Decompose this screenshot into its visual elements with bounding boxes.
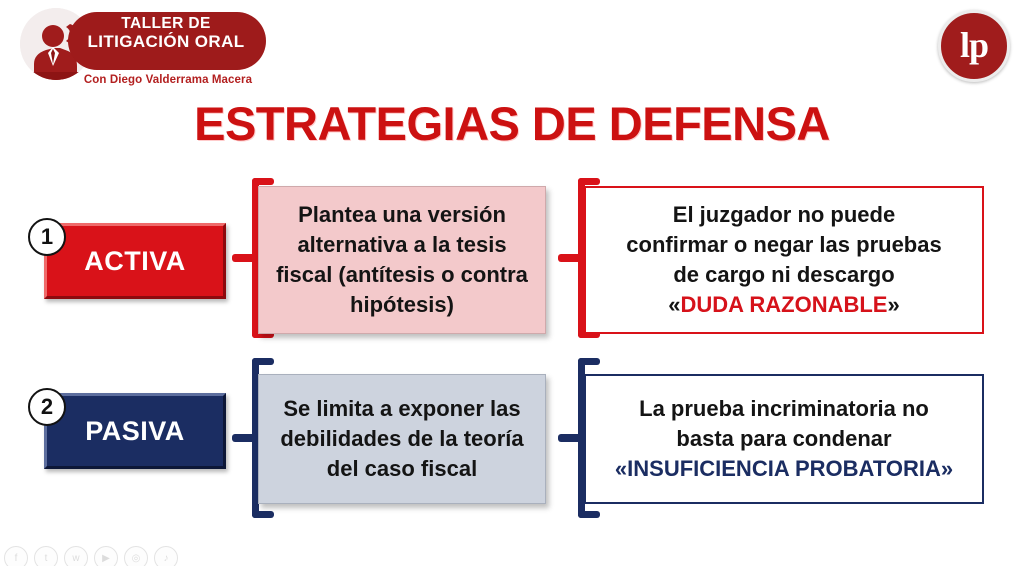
strategy-label-text: PASIVA xyxy=(85,416,185,447)
conclusion-line: basta para condenar xyxy=(676,426,891,451)
conclusion-line: El juzgador no puede xyxy=(673,202,895,227)
strategy-row-active: 1 ACTIVA Plantea una versión alternativa… xyxy=(0,178,1024,338)
strategy-row-passive: 2 PASIVA Se limita a exponer las debilid… xyxy=(0,358,1024,518)
logo-subtitle: Con Diego Valderrama Macera xyxy=(68,74,268,86)
row-number-badge: 2 xyxy=(28,388,66,426)
instagram-icon[interactable]: ◎ xyxy=(124,546,148,566)
strategy-description-panel-passive: Se limita a exponer las debilidades de l… xyxy=(258,374,546,504)
logo-title-line2: LITIGACIÓN ORAL xyxy=(70,33,262,51)
bracket-arm-bottom xyxy=(578,511,600,518)
conclusion-line: de cargo ni descargo xyxy=(673,262,894,287)
strategy-label-activa[interactable]: ACTIVA xyxy=(44,223,226,299)
facebook-icon[interactable]: f xyxy=(4,546,28,566)
lp-logo-text: lp xyxy=(960,27,988,63)
conclusion-highlight: DUDA RAZONABLE xyxy=(681,292,888,317)
strategy-description-text: Se limita a exponer las debilidades de l… xyxy=(269,394,535,484)
conclusion-highlight: INSUFICIENCIA PROBATORIA xyxy=(627,456,941,481)
strategy-conclusion-panel-active: El juzgador no puede confirmar o negar l… xyxy=(584,186,984,334)
quote-close: » xyxy=(941,456,953,481)
logo-title-line1: TALLER DE xyxy=(70,15,262,33)
bracket-arm-bottom xyxy=(252,511,274,518)
conclusion-line: La prueba incriminatoria no xyxy=(639,396,929,421)
strategy-conclusion-panel-passive: La prueba incriminatoria no basta para c… xyxy=(584,374,984,504)
tiktok-icon[interactable]: ♪ xyxy=(154,546,178,566)
quote-close: » xyxy=(887,292,899,317)
lp-logo-badge: lp xyxy=(938,10,1010,82)
strategy-description-panel-active: Plantea una versión alternativa a la tes… xyxy=(258,186,546,334)
social-icon-strip: f t w ▶ ◎ ♪ xyxy=(4,546,178,566)
page-title: ESTRATEGIAS DE DEFENSA xyxy=(0,96,1024,152)
twitter-icon[interactable]: t xyxy=(34,546,58,566)
strategy-conclusion-text: La prueba incriminatoria no basta para c… xyxy=(615,394,953,484)
slide-canvas: TALLER DE LITIGACIÓN ORAL Con Diego Vald… xyxy=(0,0,1024,566)
quote-open: « xyxy=(615,456,627,481)
youtube-icon[interactable]: ▶ xyxy=(94,546,118,566)
strategy-description-text: Plantea una versión alternativa a la tes… xyxy=(269,200,535,320)
conclusion-line: confirmar o negar las pruebas xyxy=(626,232,941,257)
course-logo: TALLER DE LITIGACIÓN ORAL Con Diego Vald… xyxy=(8,6,270,98)
whatsapp-icon[interactable]: w xyxy=(64,546,88,566)
row-number-badge: 1 xyxy=(28,218,66,256)
logo-title: TALLER DE LITIGACIÓN ORAL xyxy=(70,15,262,51)
strategy-conclusion-text: El juzgador no puede confirmar o negar l… xyxy=(626,200,941,320)
strategy-label-pasiva[interactable]: PASIVA xyxy=(44,393,226,469)
strategy-label-text: ACTIVA xyxy=(84,246,186,277)
quote-open: « xyxy=(668,292,680,317)
